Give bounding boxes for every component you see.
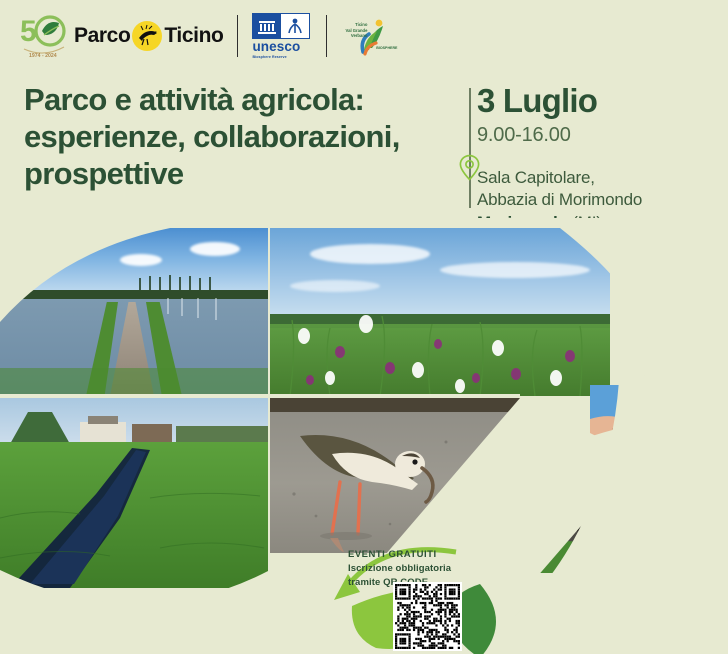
heron-icon [132, 21, 162, 51]
unesco-person-icon [281, 14, 309, 38]
qr-code[interactable] [393, 582, 462, 651]
title-line-3: prospettive [24, 156, 183, 191]
event-details: 3 Luglio 9.00-16.00 Sala Capitolare, Abb… [477, 84, 717, 234]
photo-rice-paddy-path [0, 228, 268, 396]
photo-cheese-milk [592, 444, 728, 564]
logo-divider-1 [237, 15, 238, 57]
venue-line-1: Sala Capitolare, [477, 168, 595, 187]
mab-biosphere-logo: Ticino Val Grande Verbano BIOSPHERE [341, 14, 397, 58]
title-line-2: esperienze, collaborazioni, [24, 119, 400, 154]
svg-text:5: 5 [20, 15, 37, 48]
photo-meadow-ditch [0, 398, 268, 588]
title-line-1: Parco e attività agricola: [24, 82, 364, 117]
mab-region-text: Ticino Val Grande Verbano [341, 22, 367, 39]
venue-line-2: Abbazia di Morimondo [477, 190, 642, 209]
location-pin-icon [458, 154, 481, 181]
photo-flowering-field [270, 228, 610, 396]
brand-word-parco: Parco [74, 24, 130, 48]
mab-biosphere-tag: BIOSPHERE [376, 46, 397, 50]
unesco-temple-icon [253, 14, 281, 38]
promo-line-2: Iscrizione obbligatoria [348, 562, 451, 576]
logo-bar: 5 1974 - 2024 Parco Ticino [18, 8, 397, 64]
unesco-wordmark: unesco [252, 40, 312, 55]
event-time: 9.00-16.00 [477, 124, 717, 147]
anniversary-years: 1974 - 2024 [29, 53, 57, 59]
brand-word-ticino: Ticino [164, 24, 223, 48]
meta-rule-top [469, 88, 471, 208]
unesco-logo: unesco Biosphere Reserve [252, 13, 312, 60]
qr-promo-block: EVENTI GRATUITI Iscrizione obbligatoria … [330, 536, 580, 654]
promo-line-1: EVENTI GRATUITI [348, 548, 451, 562]
event-date: 3 Luglio [477, 84, 717, 117]
50-anniversary-logo: 5 1974 - 2024 [18, 11, 70, 61]
logo-divider-2 [326, 15, 327, 57]
parco-ticino-logo: Parco Ticino [74, 21, 223, 51]
unesco-subtitle: Biosphere Reserve [252, 55, 312, 59]
photo-stilt-bird [270, 398, 520, 553]
page-title: Parco e attività agricola: esperienze, c… [24, 82, 454, 193]
